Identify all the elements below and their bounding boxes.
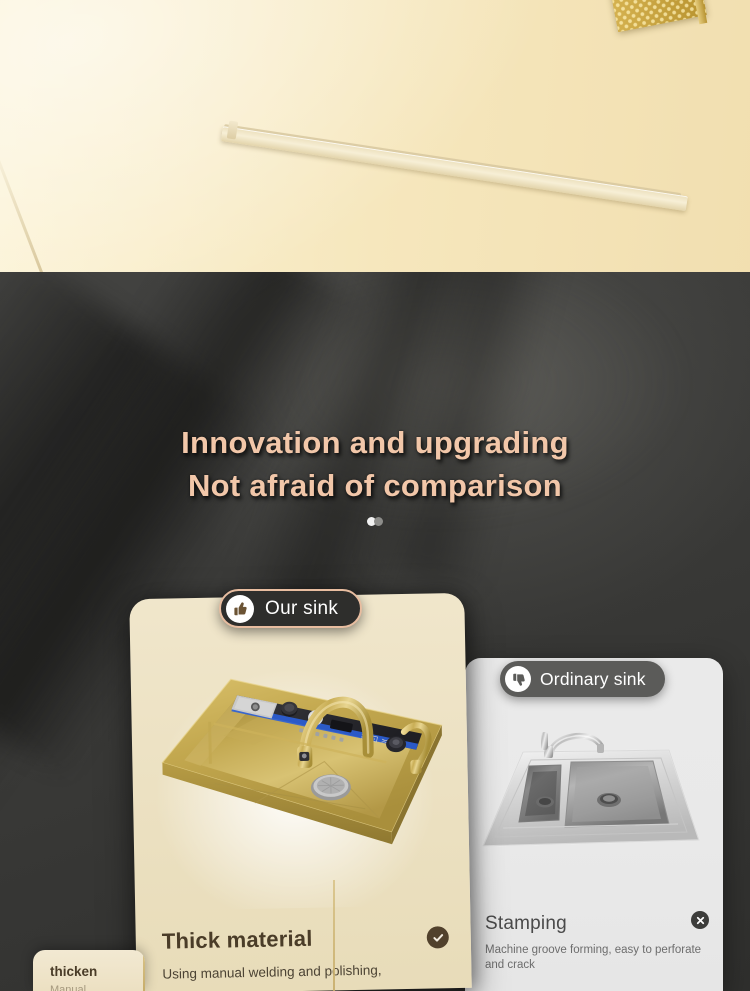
- our-sink-image: ≋ ⊡ ≍: [152, 639, 452, 877]
- ordinary-sink-image: [473, 720, 705, 870]
- our-feature-title: Thick material: [162, 923, 451, 955]
- x-circle-icon: [691, 911, 709, 929]
- ordinary-sink-badge-label: Ordinary sink: [540, 669, 646, 690]
- cream-cabinet-panel: [0, 0, 750, 272]
- cabinet-sheen: [0, 0, 750, 272]
- our-sink-badge-label: Our sink: [265, 598, 338, 620]
- thumbs-up-icon: [226, 595, 254, 623]
- thicken-label: thicken: [50, 964, 97, 979]
- headline-line-1: Innovation and upgrading: [181, 425, 569, 460]
- our-sink-badge[interactable]: Our sink: [219, 589, 362, 628]
- peek-card-edge: [143, 950, 145, 991]
- product-detail-page: Innovation and upgrading Not afraid of c…: [0, 0, 750, 991]
- card-divider: [333, 880, 335, 991]
- thumbs-down-icon: [505, 666, 531, 692]
- ordinary-sink-badge[interactable]: Ordinary sink: [500, 661, 665, 697]
- headline-line-2: Not afraid of comparison: [0, 464, 750, 507]
- hero-kitchen-photo: [0, 0, 750, 272]
- thicken-sub-label: Manual: [50, 984, 86, 991]
- ordinary-feature-desc: Machine groove forming, easy to perforat…: [485, 943, 709, 973]
- ordinary-feature-title: Stamping: [485, 913, 709, 935]
- carousel-dot[interactable]: [374, 517, 383, 526]
- our-sink-card[interactable]: ≋ ⊡ ≍: [129, 593, 472, 991]
- carousel-indicator[interactable]: [0, 517, 750, 526]
- our-feature-text: Thick material Using manual welding and …: [162, 923, 452, 984]
- thicken-preview-card[interactable]: thicken Manual: [33, 950, 145, 991]
- promo-headline: Innovation and upgrading Not afraid of c…: [0, 421, 750, 507]
- ordinary-feature-text: Stamping Machine groove forming, easy to…: [485, 913, 709, 973]
- our-feature-desc: Using manual welding and polishing,: [162, 959, 451, 984]
- ordinary-sink-card[interactable]: Stamping Machine groove forming, easy to…: [465, 658, 723, 991]
